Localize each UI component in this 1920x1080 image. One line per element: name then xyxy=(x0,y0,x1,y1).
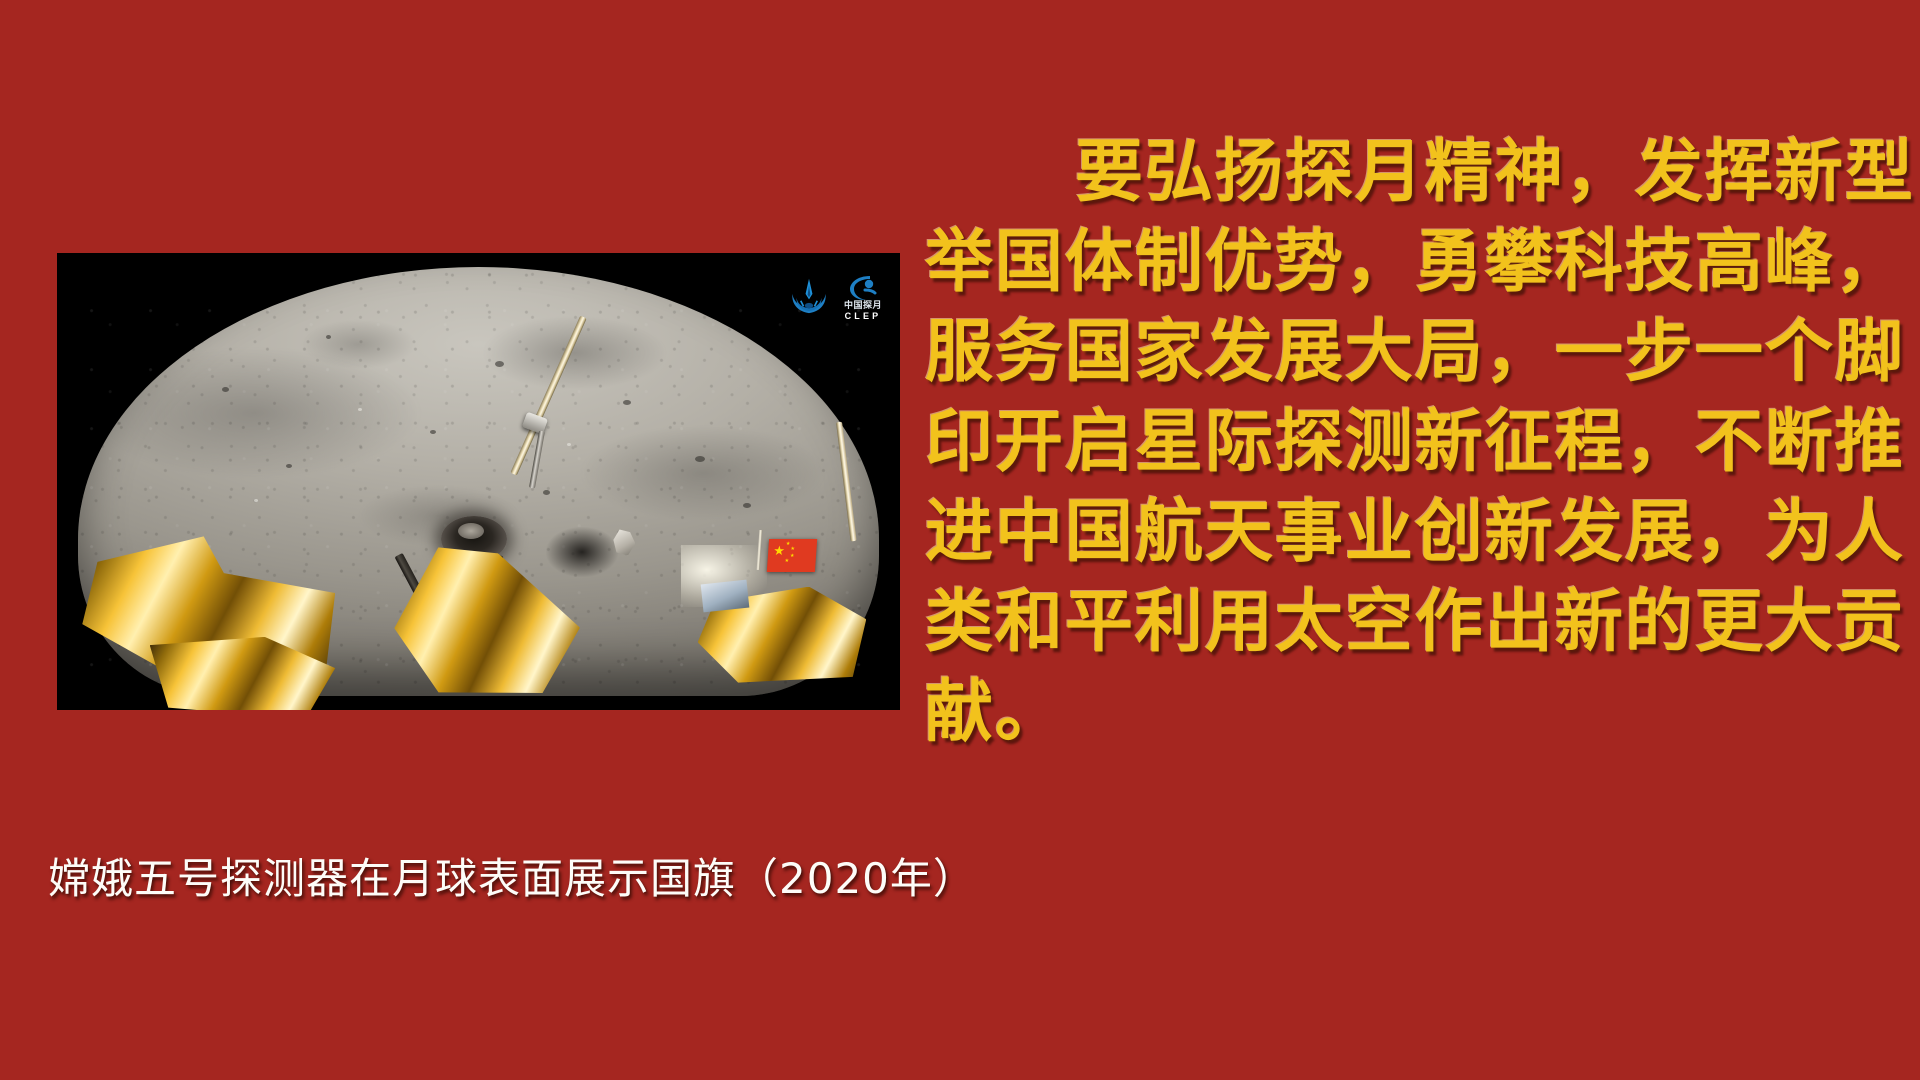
clep-english-label: CLEP xyxy=(845,312,882,321)
flag-star-small-3: ★ xyxy=(789,554,794,559)
quote-line-2: 举国体制优势，勇攀科技高峰， xyxy=(925,218,1825,308)
flag-star-small-4: ★ xyxy=(784,559,789,564)
photo-content: ★ ★ ★ ★ ★ 中国探月 CLE xyxy=(57,253,900,710)
quote-line-3: 服务国家发展大局，一步一个脚 xyxy=(925,308,1825,398)
clep-logo: 中国探月 CLEP xyxy=(787,275,882,321)
clep-chinese-label: 中国探月 xyxy=(844,302,882,311)
chinese-national-flag: ★ ★ ★ ★ ★ xyxy=(766,539,816,572)
quote-line-5: 进中国航天事业创新发展，为人 xyxy=(925,488,1825,578)
quote-line-6: 类和平利用太空作出新的更大贡 xyxy=(925,578,1825,668)
flag-star-small-2: ★ xyxy=(790,547,795,552)
engine-nozzle-highlight xyxy=(458,523,484,539)
quote-line-4: 印开启星际探测新征程，不断推 xyxy=(925,398,1825,488)
flag-star-large: ★ xyxy=(772,544,785,557)
instrument-panel xyxy=(701,580,750,613)
flag-star-small-1: ★ xyxy=(785,542,790,547)
quote-line-1: 要弘扬探月精神，发挥新型 xyxy=(925,128,1825,218)
clep-rocket-emblem xyxy=(787,276,831,320)
quote-block: 要弘扬探月精神，发挥新型 举国体制优势，勇攀科技高峰， 服务国家发展大局，一步一… xyxy=(925,128,1825,758)
lander-shadow xyxy=(546,527,618,577)
clep-crescent-moon-icon xyxy=(848,275,878,301)
photo-caption: 嫦娥五号探测器在月球表面展示国旗（2020年） xyxy=(48,845,976,906)
lunar-surface-photo: ★ ★ ★ ★ ★ 中国探月 CLE xyxy=(57,253,900,710)
quote-line-7: 献。 xyxy=(925,668,1825,758)
